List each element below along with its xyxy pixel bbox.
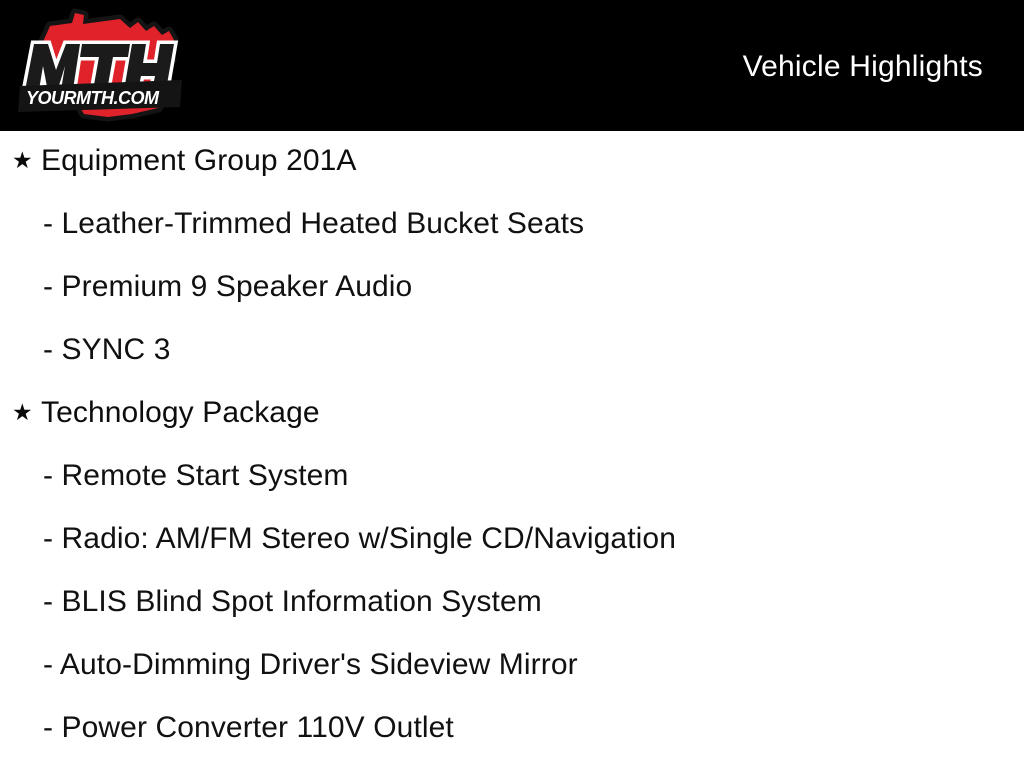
highlight-item-row: - Radio: AM/FM Stereo w/Single CD/Naviga… [0,519,676,559]
highlight-item-label: - Leather-Trimmed Heated Bucket Seats [43,207,584,241]
highlight-item-label: - SYNC 3 [43,333,171,367]
highlight-item-row: - Auto-Dimming Driver's Sideview Mirror [0,645,578,685]
highlight-item-row: - Power Converter 110V Outlet [0,708,454,748]
star-bullet-icon: ★ [12,149,34,172]
page-header: YOURMTH.COM Vehicle Highlights [0,0,1024,131]
highlight-item-label: - Power Converter 110V Outlet [43,711,454,745]
highlight-group-label: Equipment Group 201A [41,144,357,178]
vehicle-highlights-list: ★Equipment Group 201A- Leather-Trimmed H… [0,131,1024,768]
highlight-item-row: - SYNC 3 [0,330,171,370]
highlight-item-label: - Radio: AM/FM Stereo w/Single CD/Naviga… [43,522,676,556]
highlight-item-label: - Premium 9 Speaker Audio [43,270,412,304]
mth-logo[interactable]: YOURMTH.COM [12,4,192,126]
highlight-group-row: ★Equipment Group 201A [0,141,357,181]
highlight-item-label: - Auto-Dimming Driver's Sideview Mirror [43,648,578,682]
highlight-item-row: - Remote Start System [0,456,349,496]
highlight-group-label: Technology Package [41,396,320,430]
highlight-group-row: ★Technology Package [0,393,320,433]
highlight-item-label: - Remote Start System [43,459,349,493]
star-bullet-icon: ★ [12,401,34,424]
highlight-item-row: - BLIS Blind Spot Information System [0,582,542,622]
highlight-item-row: - Leather-Trimmed Heated Bucket Seats [0,204,584,244]
highlight-item-label: - BLIS Blind Spot Information System [43,585,542,619]
page-title: Vehicle Highlights [743,50,983,84]
logo-tagline-text: YOURMTH.COM [26,88,160,108]
highlight-item-row: - Premium 9 Speaker Audio [0,267,412,307]
